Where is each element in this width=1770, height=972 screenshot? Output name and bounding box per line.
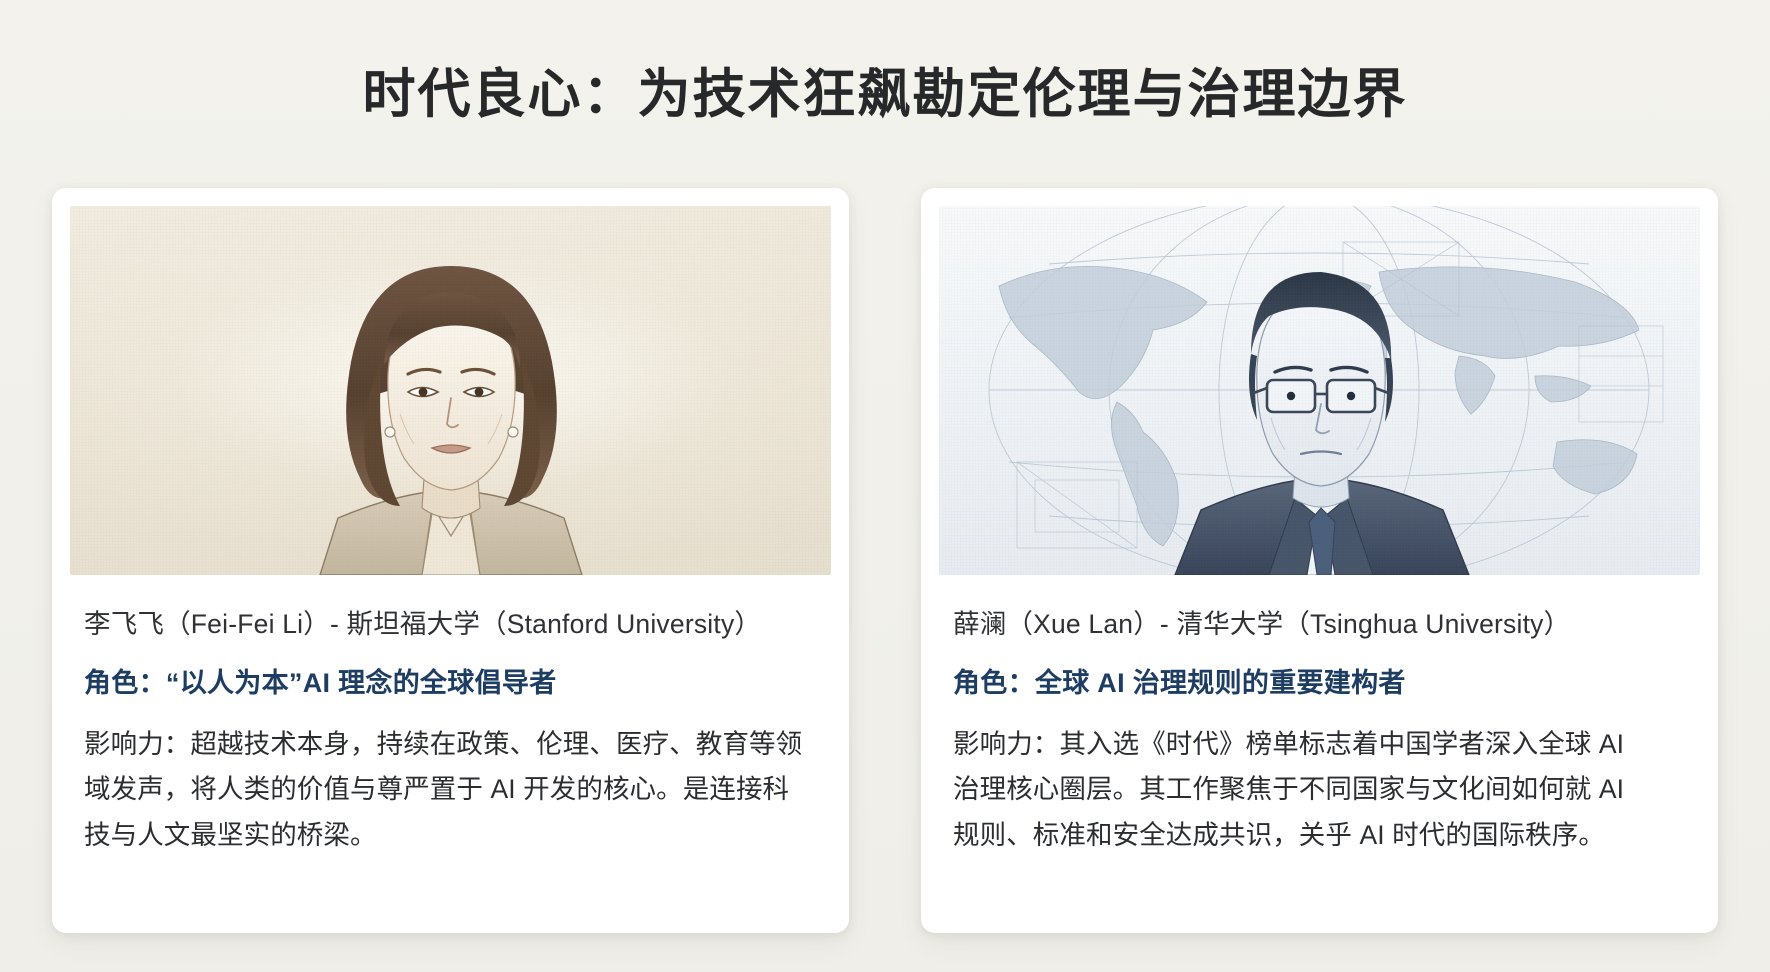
portrait-blue-background <box>939 206 1700 575</box>
person-impact-right: 影响力：其入选《时代》榜单标志着中国学者深入全球 AI 治理核心圈层。其工作聚焦… <box>953 722 1653 859</box>
portrait-sepia-background <box>70 206 831 575</box>
person-name-right: 薛澜（Xue Lan）- 清华大学（Tsinghua University） <box>953 607 1686 643</box>
person-role-right: 角色：全球 AI 治理规则的重要建构者 <box>953 661 1686 700</box>
portrait-frame-left <box>70 206 831 575</box>
person-card-xue-lan[interactable]: 薛澜（Xue Lan）- 清华大学（Tsinghua University） 角… <box>921 188 1718 933</box>
slide-root: 时代良心：为技术狂飙勘定伦理与治理边界 <box>0 0 1770 972</box>
portrait-illustration-left <box>70 206 831 575</box>
card-body-right: 薛澜（Xue Lan）- 清华大学（Tsinghua University） 角… <box>939 607 1700 859</box>
card-body-left: 李飞飞（Fei-Fei Li）- 斯坦福大学（Stanford Universi… <box>70 607 831 859</box>
person-name-left: 李飞飞（Fei-Fei Li）- 斯坦福大学（Stanford Universi… <box>84 607 817 643</box>
person-card-fei-fei-li[interactable]: 李飞飞（Fei-Fei Li）- 斯坦福大学（Stanford Universi… <box>52 188 849 933</box>
person-role-left: 角色：“以人为本”AI 理念的全球倡导者 <box>84 661 817 700</box>
portrait-frame-right <box>939 206 1700 575</box>
person-impact-left: 影响力：超越技术本身，持续在政策、伦理、医疗、教育等领域发声，将人类的价值与尊严… <box>84 722 804 859</box>
card-grid: 李飞飞（Fei-Fei Li）- 斯坦福大学（Stanford Universi… <box>52 188 1718 933</box>
page-title: 时代良心：为技术狂飙勘定伦理与治理边界 <box>0 52 1770 128</box>
portrait-illustration-right <box>939 206 1700 575</box>
